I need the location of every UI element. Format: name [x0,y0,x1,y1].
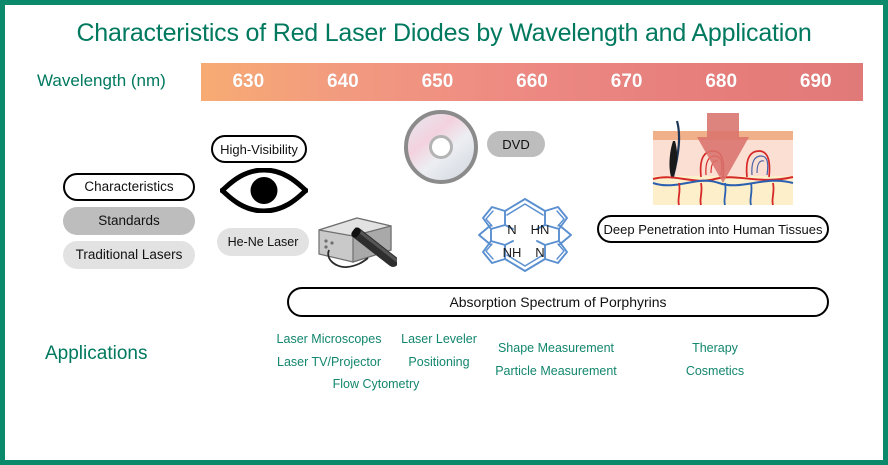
wavelength-axis-label: Wavelength (nm) [37,71,166,91]
axis-tick-640: 640 [296,71,391,93]
legend-item-characteristics: Characteristics [63,173,195,201]
applications-column-5: Flow Cytometry [311,377,441,400]
legend-item-standards: Standards [63,207,195,235]
callout-he-ne-laser: He-Ne Laser [217,228,309,256]
application-laser-leveler: Laser Leveler [391,332,487,346]
application-positioning: Positioning [391,355,487,369]
application-particle-measurement: Particle Measurement [483,364,629,378]
axis-tick-630: 630 [201,71,296,93]
axis-tick-680: 680 [674,71,769,93]
application-shape-measurement: Shape Measurement [483,341,629,355]
callout-high-visibility: High-Visibility [211,135,307,163]
application-laser-tv-projector: Laser TV/Projector [269,355,389,369]
axis-tick-670: 670 [579,71,674,93]
dvd-disc-icon [403,109,479,185]
legend-item-traditional-lasers: Traditional Lasers [63,241,195,269]
application-flow-cytometry: Flow Cytometry [311,377,441,391]
molecule-label-n-right-bottom: N [535,245,544,260]
application-therapy: Therapy [665,341,765,355]
eye-icon [220,168,308,213]
molecule-label-nh: NH [503,245,522,260]
page-title: Characteristics of Red Laser Diodes by W… [5,19,883,48]
callout-dvd: DVD [487,131,545,157]
applications-column-3: Shape Measurement Particle Measurement [483,341,629,387]
axis-tick-650: 650 [390,71,485,93]
callout-absorption-spectrum: Absorption Spectrum of Porphyrins [287,287,829,317]
skin-penetration-icon [639,113,803,209]
application-laser-microscopes: Laser Microscopes [269,332,389,346]
applications-heading: Applications [45,343,147,365]
application-cosmetics: Cosmetics [665,364,765,378]
axis-tick-660: 660 [485,71,580,93]
he-ne-laser-icon [313,212,397,274]
applications-column-2: Laser Leveler Positioning [391,332,487,378]
axis-tick-690: 690 [768,71,863,93]
applications-column-4: Therapy Cosmetics [665,341,765,387]
infographic-canvas: Characteristics of Red Laser Diodes by W… [5,5,883,460]
wavelength-gradient-bar: 630 640 650 660 670 680 690 [201,63,863,101]
infographic-frame: Characteristics of Red Laser Diodes by W… [0,0,888,465]
callout-deep-penetration: Deep Penetration into Human Tissues [597,215,829,243]
molecule-label-hn: HN [531,222,550,237]
porphyrin-molecule-icon: N HN NH N [457,177,593,293]
molecule-label-n-left-top: N [507,222,516,237]
applications-column-1: Laser Microscopes Laser TV/Projector [269,332,389,378]
